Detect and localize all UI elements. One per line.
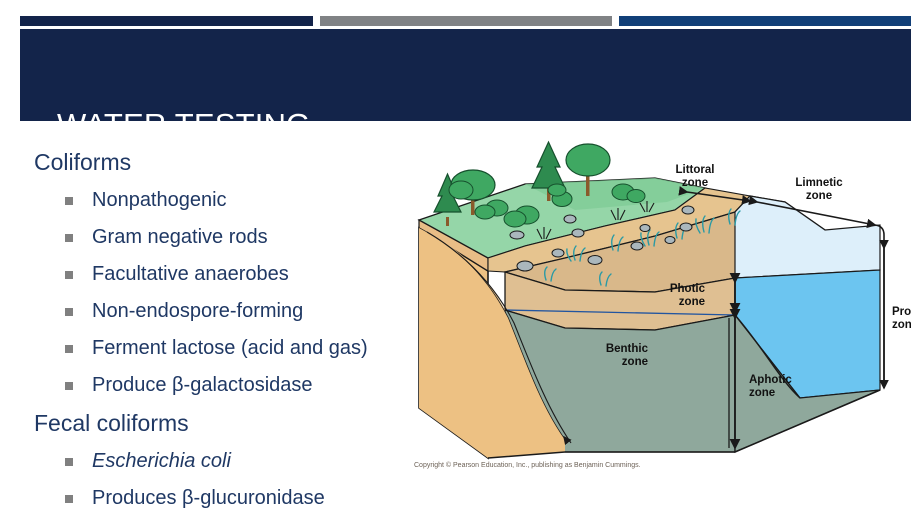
bullet-content: Coliforms Nonpathogenic Gram negative ro…	[33, 143, 408, 517]
label-littoral-zone-line2: zone	[682, 177, 708, 189]
list-item-label: Ferment lactose (acid and gas)	[92, 337, 368, 359]
figure-copyright: Copyright © Pearson Education, Inc., pub…	[414, 462, 641, 469]
label-limnetic-zone-line1: Limnetic	[795, 177, 843, 189]
heading-fecal-coliforms: Fecal coliforms	[33, 404, 408, 443]
label-profundal-zone-line1: Prof	[892, 306, 911, 318]
accent-bar-blue	[619, 16, 911, 26]
list-item-label: Gram negative rods	[92, 226, 268, 248]
list-item-label: Escherichia coli	[92, 450, 231, 472]
list-item: Ferment lactose (acid and gas)	[33, 330, 408, 367]
list-item-label: Produces β-glucuronidase	[92, 487, 325, 509]
list-item: Produce β-galactosidase	[33, 367, 408, 404]
label-aphotic-zone-line2: zone	[749, 387, 775, 399]
list-item: Facultative anaerobes	[33, 256, 408, 293]
label-benthic-zone-line1: Benthic	[606, 343, 649, 355]
accent-bar-gray	[320, 16, 612, 26]
list-item-label: Produce β-galactosidase	[92, 374, 313, 396]
label-photic-zone-line2: zone	[679, 296, 705, 308]
list-item: Escherichia coli	[33, 443, 408, 480]
accent-bar-navy	[20, 16, 313, 26]
shrub-icon	[548, 184, 566, 196]
list-item: Gram negative rods	[33, 219, 408, 256]
title-banner: WATER TESTING	[20, 29, 911, 121]
label-aphotic-zone-line1: Aphotic	[749, 374, 792, 386]
page-title: WATER TESTING	[57, 107, 310, 143]
list-item: Nonpathogenic	[33, 182, 408, 219]
label-limnetic-zone-line2: zone	[806, 190, 832, 202]
list-item-label: Facultative anaerobes	[92, 263, 289, 285]
square-bullet-icon	[65, 495, 73, 503]
label-littoral-zone-line1: Littoral	[676, 164, 715, 176]
heading-coliforms: Coliforms	[33, 143, 408, 182]
label-photic-zone-line1: Photic	[670, 283, 706, 295]
list-item: Non-endospore-forming	[33, 293, 408, 330]
square-bullet-icon	[65, 234, 73, 242]
square-bullet-icon	[65, 308, 73, 316]
square-bullet-icon	[65, 382, 73, 390]
list-item-label: Non-endospore-forming	[92, 300, 303, 322]
limnetic-water-wedge	[735, 196, 880, 452]
square-bullet-icon	[65, 458, 73, 466]
lake-zonation-diagram: Littoral zone Limnetic zone Prof zone Ph…	[405, 140, 911, 480]
square-bullet-icon	[65, 197, 73, 205]
label-profundal-zone-line2: zone	[892, 319, 911, 331]
list-item: Produces β-glucuronidase	[33, 480, 408, 517]
square-bullet-icon	[65, 271, 73, 279]
label-benthic-zone-line2: zone	[622, 356, 648, 368]
square-bullet-icon	[65, 345, 73, 353]
list-item-label: Nonpathogenic	[92, 189, 227, 211]
